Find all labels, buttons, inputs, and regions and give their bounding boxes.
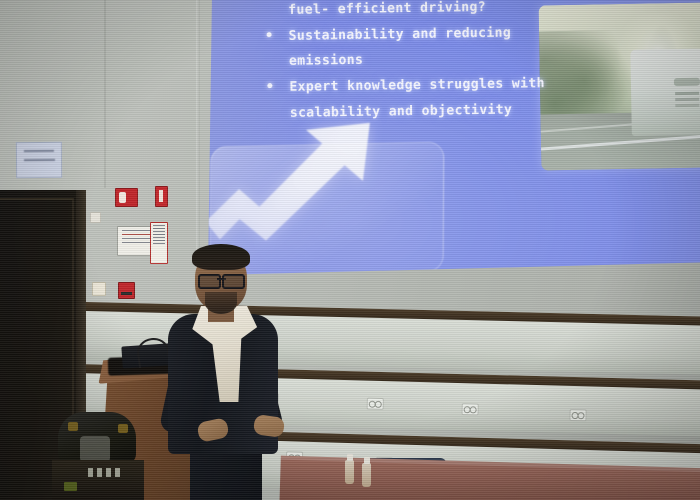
camera-indicator-lights (88, 468, 122, 477)
camera-accent (118, 424, 128, 433)
instruction-line (153, 228, 165, 229)
presenter-beard (205, 292, 237, 314)
slide-line-1: Sustainability and reducing (264, 20, 564, 50)
wall-seam-secondary (104, 0, 106, 188)
bullet-dot-icon (267, 83, 272, 88)
power-outlet[interactable] (569, 409, 586, 421)
camera-display (64, 482, 77, 491)
water-bottle[interactable] (345, 460, 354, 484)
presentation-photo: fuel- efficient driving? Sustainability … (0, 0, 700, 500)
fire-alarm-call-point[interactable] (118, 282, 135, 299)
instruction-line (153, 231, 165, 232)
power-outlet[interactable] (367, 398, 384, 410)
glasses-lens-left (198, 274, 221, 289)
fire-safety-sign (115, 188, 138, 207)
instruction-line (153, 234, 165, 235)
fire-extinguisher-sign (155, 186, 168, 207)
presenter-lower-body (190, 446, 262, 500)
slide-line-1-label: Sustainability and reducing (289, 25, 512, 43)
instruction-line (153, 225, 165, 226)
presenter-glasses (198, 274, 245, 285)
small-wall-label (92, 282, 106, 296)
water-bottle[interactable] (362, 463, 371, 487)
slide-line-4: scalability and objectivity (266, 97, 566, 127)
light-switch[interactable] (90, 212, 101, 223)
glasses-lens-right (222, 274, 245, 289)
upward-trend-arrow-icon (194, 120, 406, 254)
slide-line-3-label: Expert knowledge struggles with (289, 76, 545, 95)
camera-accent (68, 422, 78, 431)
projected-slide: fuel- efficient driving? Sustainability … (205, 0, 700, 278)
tripod-camera[interactable] (58, 412, 136, 464)
presenter-hair (192, 244, 250, 270)
power-outlet[interactable] (462, 403, 479, 415)
instruction-line (153, 237, 165, 238)
paper-note (16, 142, 62, 178)
slide-text-block: fuel- efficient driving? Sustainability … (264, 0, 566, 127)
slide-line-3: Expert knowledge struggles with (265, 71, 565, 101)
presenter (150, 240, 300, 500)
tripod-base (52, 460, 144, 500)
bullet-dot-icon (267, 32, 272, 37)
